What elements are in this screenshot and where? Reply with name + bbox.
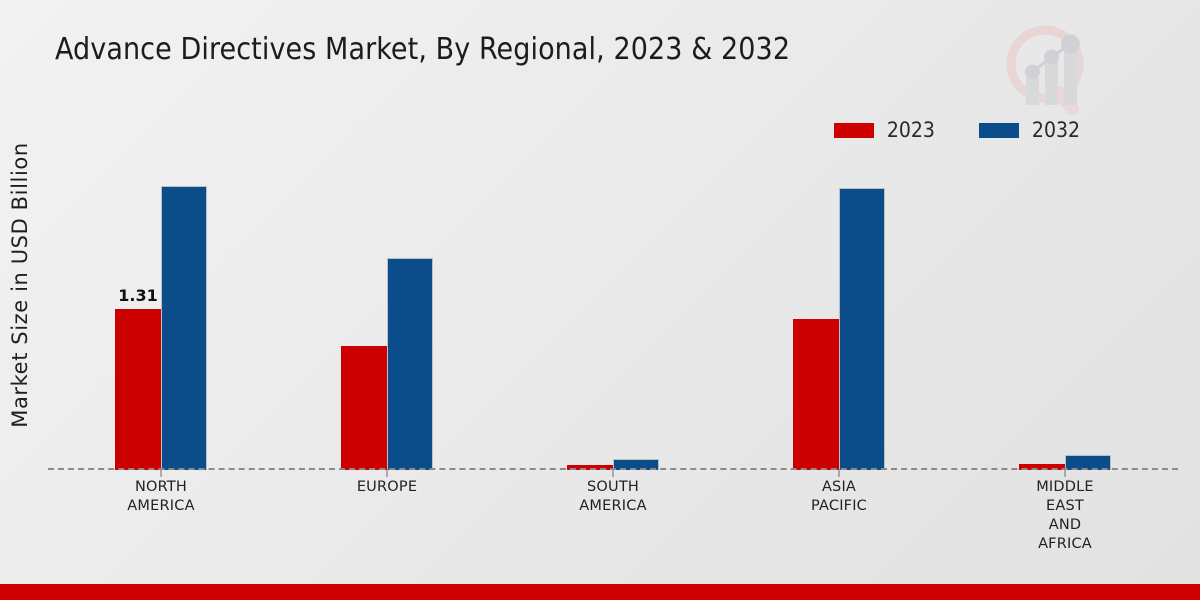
chart-legend: 2023 2032 — [834, 118, 1080, 142]
y-axis-title-text: Market Size in USD Billion — [8, 142, 32, 428]
x-axis-tick — [1065, 469, 1066, 477]
x-axis-label-line: EUROPE — [274, 478, 500, 497]
x-axis-label-line: AFRICA — [952, 535, 1178, 554]
x-axis-label-line: AMERICA — [500, 497, 726, 516]
watermark-logo-icon — [993, 14, 1105, 122]
x-axis-label: ASIAPACIFIC — [726, 478, 952, 554]
bar-group — [726, 150, 952, 470]
page-title: Advance Directives Market, By Regional, … — [55, 32, 790, 67]
x-axis-baseline — [48, 468, 1178, 470]
bar-group: 1.31 — [48, 150, 274, 470]
x-axis-label-line: AND — [952, 516, 1178, 535]
x-axis-label-line: AMERICA — [48, 497, 274, 516]
bar-2023[interactable] — [341, 346, 387, 470]
x-axis-tick — [613, 469, 614, 477]
legend-label-2032: 2032 — [1032, 118, 1080, 142]
x-axis-label-line: MIDDLE — [952, 478, 1178, 497]
legend-swatch-2023 — [834, 123, 874, 138]
x-axis-label: SOUTHAMERICA — [500, 478, 726, 554]
x-axis-label-line: EAST — [952, 497, 1178, 516]
x-axis-label-line: NORTH — [48, 478, 274, 497]
x-axis-label: NORTHAMERICA — [48, 478, 274, 554]
legend-label-2023: 2023 — [887, 118, 935, 142]
x-axis-label-line: ASIA — [726, 478, 952, 497]
x-axis-label-line: SOUTH — [500, 478, 726, 497]
x-axis-tick — [387, 469, 388, 477]
bar-value-label: 1.31 — [118, 286, 157, 305]
bar-2032[interactable] — [387, 258, 433, 470]
bar-group — [500, 150, 726, 470]
x-axis-label: EUROPE — [274, 478, 500, 554]
legend-item-2032[interactable]: 2032 — [979, 118, 1080, 142]
x-axis-label: MIDDLEEASTANDAFRICA — [952, 478, 1178, 554]
bar-2023[interactable]: 1.31 — [115, 309, 161, 470]
bar-2023[interactable] — [793, 319, 839, 470]
bar-2032[interactable] — [839, 188, 885, 470]
x-axis-tick — [839, 469, 840, 477]
legend-item-2023[interactable]: 2023 — [834, 118, 935, 142]
bar-group — [274, 150, 500, 470]
legend-swatch-2032 — [979, 123, 1019, 138]
x-axis-labels: NORTHAMERICAEUROPESOUTHAMERICAASIAPACIFI… — [48, 478, 1178, 554]
chart-container: Advance Directives Market, By Regional, … — [0, 0, 1200, 600]
bar-group — [952, 150, 1178, 470]
x-axis-tick — [161, 469, 162, 477]
bar-groups: 1.31 — [48, 150, 1178, 470]
plot-area: 1.31 — [48, 150, 1178, 470]
y-axis-title: Market Size in USD Billion — [0, 110, 40, 460]
bar-2032[interactable] — [161, 186, 207, 470]
x-axis-label-line: PACIFIC — [726, 497, 952, 516]
footer-accent-bar — [0, 584, 1200, 600]
